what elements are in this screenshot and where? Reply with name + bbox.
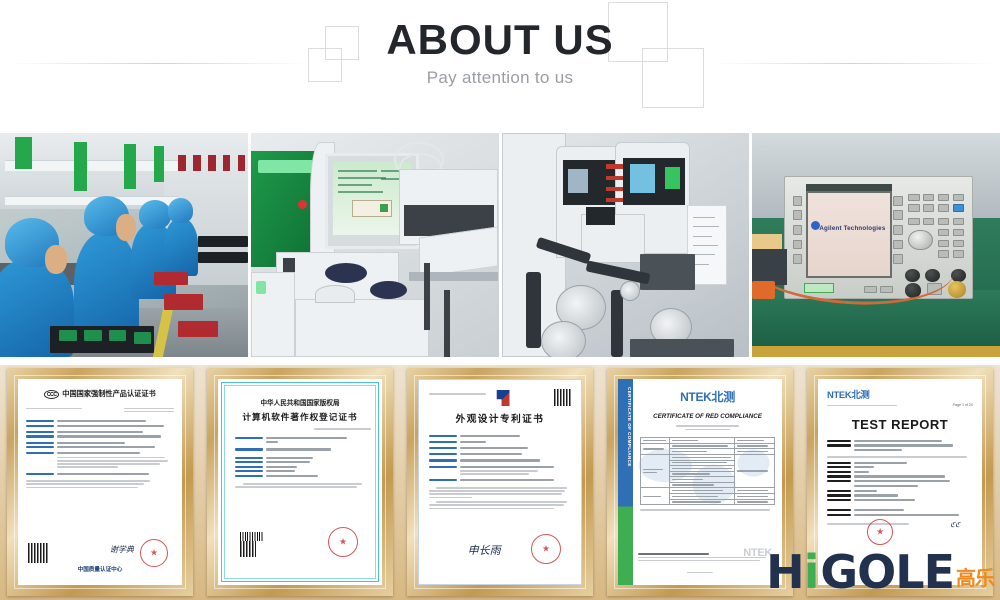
cert-field <box>26 435 174 437</box>
cert-field <box>827 444 973 446</box>
field-label <box>26 425 54 427</box>
official-seal <box>867 519 893 545</box>
cert-field <box>827 475 973 477</box>
field-value <box>854 485 918 487</box>
page-title: ABOUT US <box>0 18 1000 63</box>
certificate-document: 中华人民共和国国家版权局 计算机软件著作权登记证书 <box>218 379 382 585</box>
window-content <box>568 169 588 194</box>
photo-aoi-inspection-machine[interactable] <box>251 133 499 357</box>
pcb-board <box>59 330 76 341</box>
issuer-line <box>638 553 709 555</box>
about-us-page: ABOUT US Pay attention to us <box>0 0 1000 600</box>
wall-stripe <box>178 155 185 171</box>
function-key[interactable] <box>923 204 934 211</box>
certificate-document: 外观设计专利证书 <box>418 379 582 585</box>
logo-text-hi: Hi <box>766 554 818 592</box>
worker-cap <box>168 198 193 223</box>
indicator-oval <box>325 263 367 283</box>
cert-field <box>827 514 973 516</box>
field-value <box>854 440 942 442</box>
certificate-software-copyright[interactable]: 中华人民共和国国家版权局 计算机软件著作权登记证书 <box>200 365 400 600</box>
report-no-line <box>827 405 897 407</box>
brand-name-cn: 北测 <box>712 390 735 404</box>
cert-field <box>827 462 973 464</box>
signature: 谢学典 <box>110 544 134 555</box>
spray-nozzle <box>315 285 355 303</box>
frame-mat: CERTIFICATE OF COMPLIANCE NTEK北测 CERTIFI… <box>618 379 782 585</box>
frame-mat: 中华人民共和国国家版权局 计算机软件著作权登记证书 <box>218 379 382 585</box>
numeric-key[interactable] <box>953 240 964 247</box>
cert-field <box>827 471 973 473</box>
cert-text-line <box>26 480 150 482</box>
emergency-stop-button[interactable] <box>298 200 307 209</box>
field-value <box>460 447 528 449</box>
field-value <box>57 425 164 427</box>
field-value <box>57 473 149 475</box>
table-cell <box>641 443 670 454</box>
bench-box <box>752 234 782 250</box>
page-subtitle: Pay attention to us <box>0 68 1000 88</box>
field-value <box>460 466 554 468</box>
field-value <box>854 509 904 511</box>
field-label <box>26 420 54 422</box>
field-value <box>854 494 898 496</box>
field-label <box>827 475 851 477</box>
field-label <box>429 441 457 443</box>
cert-field <box>26 442 174 444</box>
certificate-title: 外观设计专利证书 <box>429 411 571 425</box>
cert-field <box>429 453 571 455</box>
green-label <box>256 281 266 294</box>
indicator-oval <box>370 281 407 299</box>
cert-date-line <box>124 408 174 410</box>
field-value <box>854 462 907 464</box>
cert-text-line <box>460 473 529 475</box>
field-label <box>827 471 851 473</box>
header-text-block: ABOUT US Pay attention to us <box>0 18 1000 88</box>
logo-text-gole: GOLE <box>820 554 954 592</box>
screen-dialog-ok <box>380 204 388 212</box>
red-case <box>178 321 218 337</box>
cert-field <box>429 466 571 468</box>
certificate-document: CCC 中国国家强制性产品认证证书 <box>18 379 182 585</box>
cert-text-line <box>57 457 165 459</box>
cert-text-line <box>429 493 562 495</box>
qr-code <box>28 543 48 563</box>
field-label <box>827 509 851 511</box>
cert-number-line <box>26 408 82 410</box>
field-value <box>854 471 869 473</box>
cert-field <box>827 509 973 511</box>
screen-dialog <box>352 200 392 217</box>
picture-frame: CCC 中国国家强制性产品认证证书 <box>7 368 193 596</box>
worker-face <box>116 214 136 241</box>
field-value <box>854 480 950 482</box>
field-label <box>26 446 54 448</box>
field-label <box>827 466 851 468</box>
paper-line <box>693 226 719 227</box>
frame-mat: CCC 中国国家强制性产品认证证书 <box>18 379 182 585</box>
screen-text-row <box>338 191 383 193</box>
screen-text-row <box>338 177 386 179</box>
field-value <box>57 452 140 454</box>
directive-line <box>676 425 738 427</box>
green-panel <box>74 142 86 191</box>
worker-cap <box>139 200 171 229</box>
page-number-line <box>687 572 713 574</box>
photo-pick-and-place-machines[interactable] <box>502 133 750 357</box>
table-cell <box>734 499 774 505</box>
field-label <box>429 459 457 461</box>
picture-frame: 外观设计专利证书 <box>407 368 593 596</box>
qr-code <box>240 541 256 557</box>
field-value <box>854 499 915 501</box>
numeric-key[interactable] <box>953 250 964 257</box>
field-value <box>854 444 953 446</box>
field-value <box>854 490 877 492</box>
softkey[interactable] <box>893 196 902 206</box>
conveyor-rail <box>409 272 498 281</box>
screen-text-row <box>338 184 372 186</box>
ntek-brand-logo: NTEK北测 <box>827 387 973 401</box>
footnote-line <box>640 509 770 511</box>
green-panel <box>124 144 136 189</box>
window-content <box>630 164 655 193</box>
paper-line <box>693 236 713 237</box>
patent-number-line <box>429 393 486 395</box>
numeric-key[interactable] <box>938 240 949 247</box>
wall-stripe <box>193 155 200 171</box>
certification-body-name: 中国质量认证中心 <box>18 565 182 573</box>
cert-field <box>429 459 571 461</box>
field-label <box>827 490 851 492</box>
table-cell <box>641 488 670 505</box>
softkey[interactable] <box>793 210 802 220</box>
sidebar-label: CERTIFICATE OF COMPLIANCE <box>619 387 632 467</box>
field-label <box>827 514 851 516</box>
softkey[interactable] <box>893 210 902 220</box>
numeric-key[interactable] <box>938 218 949 225</box>
green-panel <box>15 137 32 168</box>
conveyor-base <box>630 339 734 357</box>
cert-field <box>827 480 973 482</box>
certificate-ccc[interactable]: CCC 中国国家强制性产品认证证书 <box>0 365 200 600</box>
field-label <box>429 447 457 449</box>
certificate-title: CERTIFICATE OF RED COMPLIANCE <box>640 413 775 420</box>
field-value <box>460 479 554 481</box>
feeder-bank <box>640 254 695 290</box>
signature: 申长雨 <box>468 542 501 558</box>
field-label <box>26 431 54 433</box>
field-value <box>460 459 540 461</box>
field-value <box>460 435 520 437</box>
table-cell <box>670 499 734 505</box>
field-label <box>429 435 457 437</box>
field-value <box>460 441 486 443</box>
cert-text-line <box>429 490 565 492</box>
factory-photo-gallery: Agilent Technologies <box>0 133 1000 357</box>
cert-field <box>26 431 174 433</box>
cert-field <box>827 440 973 442</box>
paper-line <box>693 245 718 246</box>
brand-name-cn: 北测 <box>851 389 869 400</box>
table-cell <box>734 454 774 487</box>
paper-line <box>693 254 715 255</box>
ccc-badge: CCC <box>44 390 59 399</box>
pcb-board <box>109 330 126 341</box>
ref-no-line <box>685 429 731 431</box>
patent-logo-icon <box>494 390 510 406</box>
cert-field <box>854 485 973 487</box>
certificate-title: 中国国家强制性产品认证证书 <box>62 389 155 399</box>
component-reel <box>620 281 640 301</box>
bench-edge <box>752 346 1000 357</box>
logo-text-cn: 高乐 <box>956 569 994 589</box>
cert-field <box>429 447 571 449</box>
cert-field <box>26 452 174 454</box>
cert-field <box>429 435 571 437</box>
paper-line <box>693 217 716 218</box>
function-key[interactable] <box>908 194 919 201</box>
logo-h: Hi <box>766 545 818 599</box>
brand-name: NTEK <box>827 389 851 400</box>
field-value <box>854 449 902 451</box>
cert-field <box>26 446 174 448</box>
pcb-board <box>134 332 151 343</box>
official-seal <box>140 539 168 567</box>
orange-tool <box>752 281 774 299</box>
qr-code <box>554 389 571 406</box>
paper-line <box>693 264 710 265</box>
field-value <box>57 442 125 444</box>
numeric-key[interactable] <box>953 218 964 225</box>
photo-assembly-line[interactable] <box>0 133 248 357</box>
field-label <box>26 452 54 454</box>
wall-stripe <box>223 155 230 171</box>
field-value <box>854 466 874 468</box>
cert-text-line <box>26 487 138 489</box>
field-value <box>57 446 155 448</box>
cert-field <box>429 479 571 481</box>
signature: ℭℭ <box>950 521 960 529</box>
wall-stripe <box>208 155 215 171</box>
cert-text-line <box>436 487 567 489</box>
issuer-line <box>638 560 760 562</box>
ntek-brand-logo: NTEK北测 <box>640 388 775 405</box>
cert-field <box>827 466 973 468</box>
cert-text-line <box>429 508 554 510</box>
cert-field <box>26 420 174 422</box>
field-label <box>429 479 457 481</box>
cert-text-line <box>57 466 118 468</box>
field-label <box>827 440 851 442</box>
table-cell <box>641 454 670 487</box>
numeric-key[interactable] <box>938 229 949 236</box>
cert-text-line <box>436 501 567 503</box>
machine-base <box>295 299 429 357</box>
picture-frame: 中华人民共和国国家版权局 计算机软件著作权登记证书 <box>207 368 393 596</box>
field-label <box>827 462 851 464</box>
pcb-board <box>84 330 101 341</box>
numeric-key[interactable] <box>908 218 919 225</box>
cert-text-line <box>827 456 967 458</box>
numeric-key[interactable] <box>923 218 934 225</box>
red-label <box>606 164 623 168</box>
cert-text-line <box>57 460 168 462</box>
field-label <box>429 453 457 455</box>
field-value <box>460 453 522 455</box>
function-key[interactable] <box>953 194 964 201</box>
red-case <box>164 294 204 310</box>
support-post <box>424 263 430 330</box>
cert-text-line <box>429 504 564 506</box>
component-reel <box>541 321 586 357</box>
cert-text-line <box>26 483 144 485</box>
field-label <box>827 499 851 501</box>
certificate-design-patent[interactable]: 外观设计专利证书 <box>400 365 600 600</box>
worker-body <box>164 218 199 276</box>
cert-date-line <box>124 411 174 413</box>
page-header: ABOUT US Pay attention to us <box>0 0 1000 130</box>
component-tray <box>198 252 248 263</box>
certificate-title: TEST REPORT <box>827 417 973 432</box>
cert-text-line <box>827 523 909 525</box>
red-label <box>606 176 623 180</box>
red-case <box>154 272 189 285</box>
picture-frame: CERTIFICATE OF COMPLIANCE NTEK北测 CERTIFI… <box>607 368 793 596</box>
support-post <box>444 290 450 357</box>
cert-field <box>26 425 174 427</box>
brand-name: NTEK <box>680 390 711 404</box>
field-value <box>57 420 146 422</box>
field-label <box>26 473 54 475</box>
nozzle-bay <box>586 207 616 225</box>
field-label <box>827 480 851 482</box>
barcode <box>240 532 264 541</box>
feeder-arm <box>611 290 623 357</box>
function-key[interactable] <box>908 204 919 211</box>
certificate-document: CERTIFICATE OF COMPLIANCE NTEK北测 CERTIFI… <box>618 379 782 585</box>
cert-field <box>827 494 973 496</box>
screen-text-row <box>338 170 377 172</box>
cert-text-line <box>429 497 472 499</box>
feeder-arm <box>526 272 541 348</box>
field-label <box>827 444 851 446</box>
cert-field <box>827 490 973 492</box>
official-seal <box>531 534 561 564</box>
numeric-key[interactable] <box>953 229 964 236</box>
function-key[interactable] <box>938 194 949 201</box>
cert-field <box>429 441 571 443</box>
cert-field <box>26 473 174 475</box>
field-label <box>26 442 54 444</box>
higole-logo: Hi GOLE 高乐 <box>766 554 994 592</box>
green-light-strip <box>258 160 313 173</box>
bench-equipment <box>752 249 787 285</box>
field-value <box>57 431 143 433</box>
field-label <box>827 494 851 496</box>
wall-stripe <box>238 155 245 171</box>
field-value <box>854 514 959 516</box>
frame-mat: 外观设计专利证书 <box>418 379 582 585</box>
photo-agilent-test-instrument[interactable]: Agilent Technologies <box>752 133 1000 357</box>
component-tray <box>198 236 248 247</box>
rf-port-gold[interactable] <box>948 281 967 298</box>
cert-field <box>827 499 973 501</box>
field-value <box>57 435 161 437</box>
green-label <box>665 167 680 189</box>
standards-table <box>640 437 775 505</box>
worker-face <box>45 245 67 274</box>
function-key[interactable] <box>938 204 949 211</box>
function-key[interactable] <box>923 194 934 201</box>
field-label <box>429 466 457 468</box>
softkey[interactable] <box>793 196 802 206</box>
red-label <box>606 187 623 191</box>
function-key-highlight[interactable] <box>953 204 964 211</box>
red-label <box>606 198 623 202</box>
green-panel <box>154 146 164 182</box>
cert-field <box>854 449 973 451</box>
official-seal <box>328 527 358 557</box>
cert-text-line <box>460 470 538 472</box>
page-label: Page 1 of 20 <box>953 403 973 407</box>
cert-text-line <box>57 463 160 465</box>
field-label <box>26 435 54 437</box>
field-value <box>854 475 945 477</box>
